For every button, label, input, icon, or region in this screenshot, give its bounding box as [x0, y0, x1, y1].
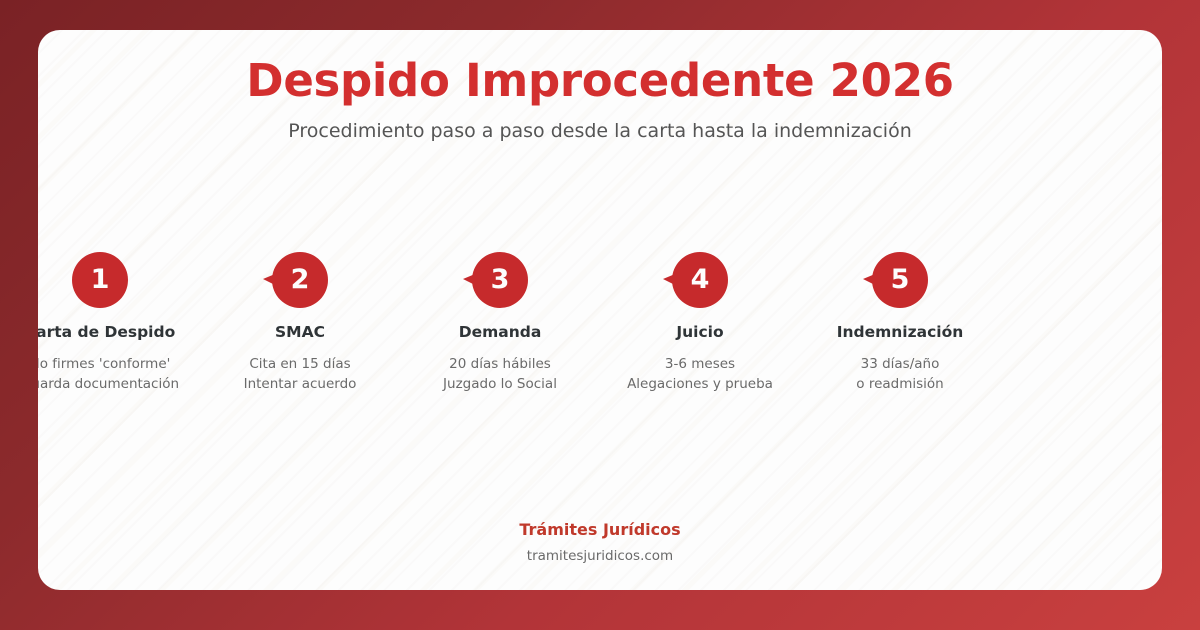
- step-desc-line1-4: 3-6 meses: [665, 356, 735, 372]
- step-circle-wrap-2: 2: [272, 252, 328, 308]
- step-desc-3: 20 días hábiles Juzgado lo Social: [400, 355, 600, 395]
- step-label-2: SMAC: [200, 323, 400, 342]
- step-label-4: Juicio: [600, 323, 800, 342]
- step-desc-line1-2: Cita en 15 días: [249, 356, 350, 372]
- step-desc-line2-2: Intentar acuerdo: [244, 376, 357, 392]
- site-url: tramitesjuridicos.com: [38, 548, 1162, 566]
- step-label-1: Carta de Despido: [38, 323, 200, 342]
- step-item-2: 2 SMAC Cita en 15 días Intentar acuerdo: [200, 222, 400, 395]
- header: Despido Improcedente 2026 Procedimiento …: [38, 30, 1162, 143]
- step-desc-line1-3: 20 días hábiles: [449, 356, 551, 372]
- step-desc-line1-5: 33 días/año: [861, 356, 940, 372]
- footer: Trámites Jurídicos tramitesjuridicos.com: [38, 520, 1162, 566]
- step-desc-line2-1: Guarda documentación: [38, 376, 179, 392]
- step-desc-line1-1: No firmes 'conforme': [38, 356, 170, 372]
- step-circle-wrap-4: 4: [672, 252, 728, 308]
- step-item-3: 3 Demanda 20 días hábiles Juzgado lo Soc…: [400, 222, 600, 395]
- step-desc-line2-4: Alegaciones y prueba: [627, 376, 773, 392]
- step-label-5: Indemnización: [800, 323, 1000, 342]
- step-circle-wrap-5: 5: [872, 252, 928, 308]
- page-title: Despido Improcedente 2026: [38, 30, 1162, 106]
- brand-name: Trámites Jurídicos: [38, 520, 1162, 541]
- step-desc-5: 33 días/año o readmisión: [800, 355, 1000, 395]
- step-desc-1: No firmes 'conforme' Guarda documentació…: [38, 355, 200, 395]
- step-number-badge-5: 5: [872, 252, 928, 308]
- step-circle-wrap-3: 3: [472, 252, 528, 308]
- step-desc-4: 3-6 meses Alegaciones y prueba: [600, 355, 800, 395]
- step-number-badge-3: 3: [472, 252, 528, 308]
- step-desc-line2-3: Juzgado lo Social: [443, 376, 557, 392]
- step-item-4: 4 Juicio 3-6 meses Alegaciones y prueba: [600, 222, 800, 395]
- step-label-3: Demanda: [400, 323, 600, 342]
- step-desc-2: Cita en 15 días Intentar acuerdo: [200, 355, 400, 395]
- page-subtitle: Procedimiento paso a paso desde la carta…: [38, 106, 1162, 143]
- step-number-badge-2: 2: [272, 252, 328, 308]
- content-card: Despido Improcedente 2026 Procedimiento …: [38, 30, 1162, 590]
- step-desc-line2-5: o readmisión: [856, 376, 943, 392]
- step-number-badge-4: 4: [672, 252, 728, 308]
- steps-row: 1 Carta de Despido No firmes 'conforme' …: [38, 222, 1162, 412]
- step-number-badge-1: 1: [72, 252, 128, 308]
- step-item-5: 5 Indemnización 33 días/año o readmisión: [800, 222, 1000, 395]
- infographic-canvas: Despido Improcedente 2026 Procedimiento …: [0, 0, 1200, 630]
- step-item-1: 1 Carta de Despido No firmes 'conforme' …: [38, 222, 200, 395]
- step-circle-wrap-1: 1: [72, 252, 128, 308]
